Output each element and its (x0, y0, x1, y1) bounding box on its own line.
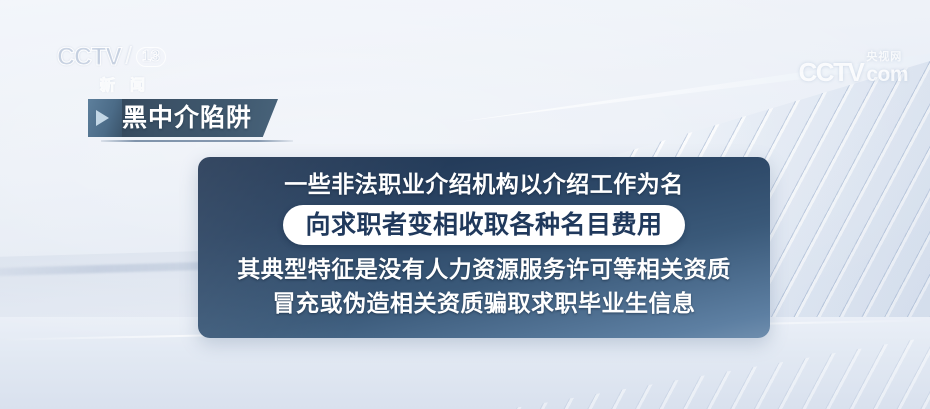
info-highlight-pill: 向求职者变相收取各种名目费用 (283, 205, 684, 245)
logo-top-row: CCTV / 13 (57, 42, 182, 72)
logo-sub-char-2: 闻 (130, 74, 145, 95)
info-card: 一些非法职业介绍机构以介绍工作为名 向求职者变相收取各种名目费用 其典型特征是没… (198, 157, 770, 338)
watermark-cctv-text: CCTV (799, 59, 864, 85)
play-triangle-icon (88, 99, 122, 137)
cctv-com-watermark: CCTV 央视网 com (799, 45, 908, 85)
info-line-3: 其典型特征是没有人力资源服务许可等相关资质 (237, 253, 731, 285)
info-card-content: 一些非法职业介绍机构以介绍工作为名 向求职者变相收取各种名目费用 其典型特征是没… (198, 157, 770, 338)
logo-channel-number: 13 (136, 47, 166, 67)
info-highlight-text: 向求职者变相收取各种名目费用 (305, 209, 662, 241)
broadcast-frame: CCTV / 13 新 闻 CCTV 央视网 com 黑中介陷阱 一些非法职业介… (0, 0, 930, 409)
info-line-4: 冒充或伪造相关资质骗取求职毕业生信息 (273, 287, 696, 319)
watermark-domain: com (866, 64, 908, 85)
topic-banner: 黑中介陷阱 (88, 99, 278, 143)
watermark-cn-label: 央视网 (866, 52, 902, 63)
watermark-right-stack: 央视网 com (866, 52, 908, 85)
logo-sub-char-1: 新 (100, 74, 115, 95)
logo-slash-icon: / (125, 42, 132, 71)
logo-cctv-text: CCTV (57, 43, 121, 72)
topic-banner-underline (101, 140, 293, 142)
info-line-1: 一些非法职业介绍机构以介绍工作为名 (284, 168, 684, 200)
topic-banner-title: 黑中介陷阱 (122, 99, 252, 137)
triangle-glyph (96, 110, 109, 126)
logo-sub-label: 新 闻 (57, 74, 182, 95)
topic-banner-body: 黑中介陷阱 (88, 99, 278, 137)
cctv-13-news-logo: CCTV / 13 新 闻 (57, 42, 182, 94)
